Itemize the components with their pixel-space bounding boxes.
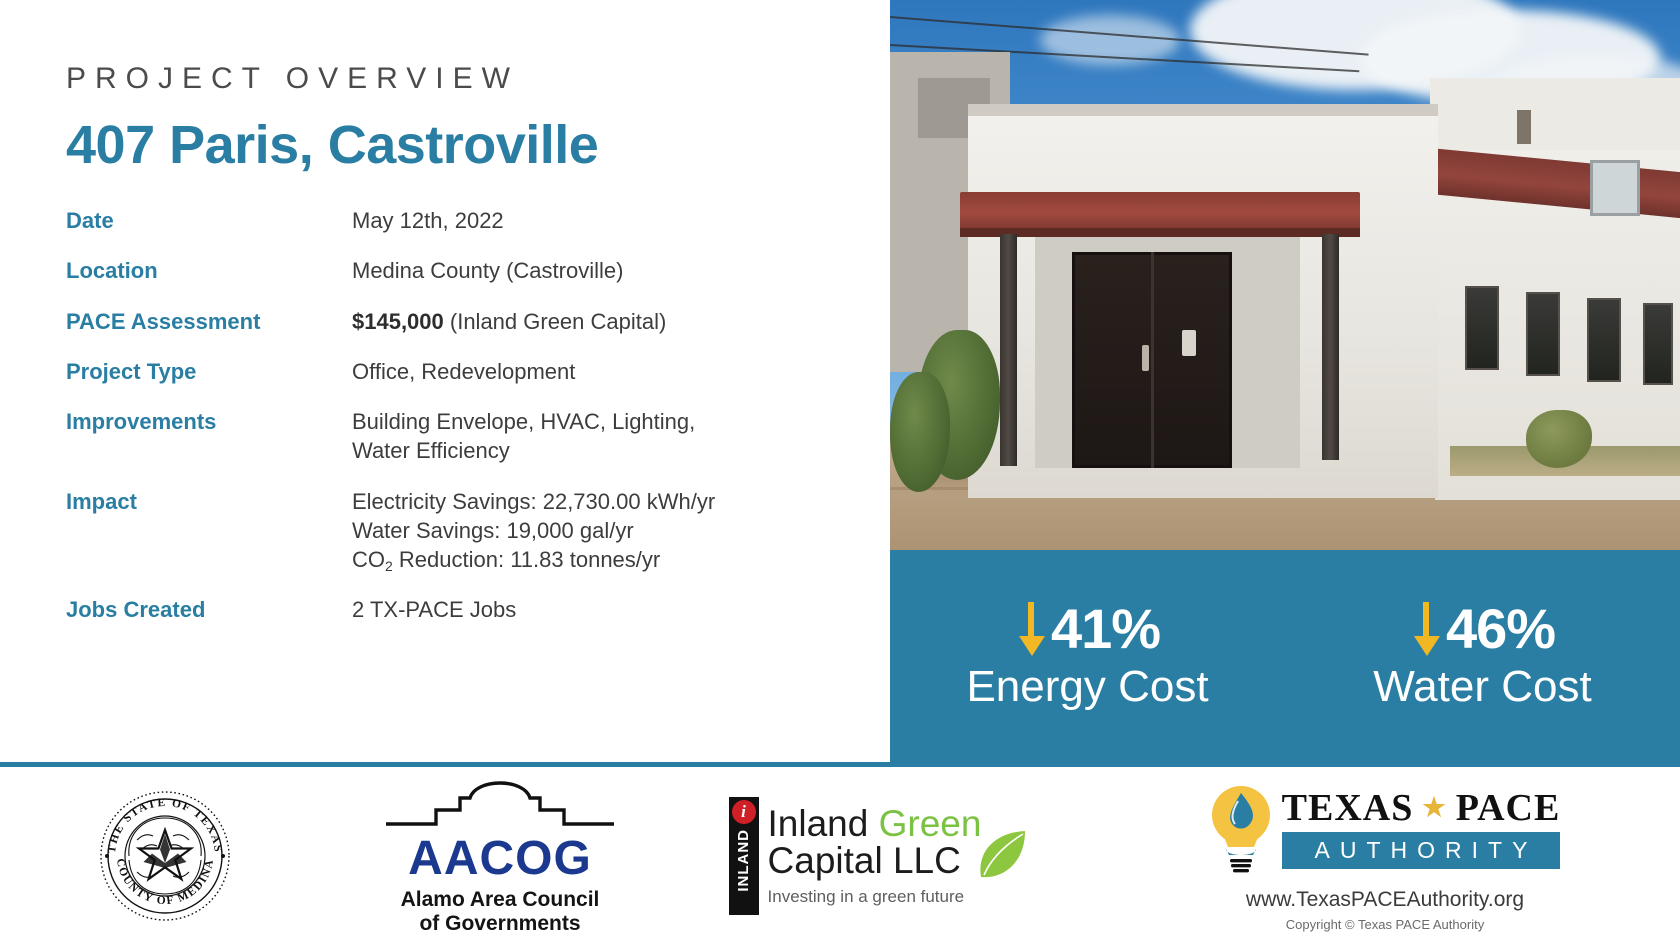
- assessment-amount: $145,000: [352, 309, 444, 334]
- stat-label: Water Cost: [1285, 662, 1680, 711]
- detail-row-date: Date May 12th, 2022: [66, 206, 890, 235]
- upper-window: [1590, 160, 1640, 216]
- stat-percent: 46%: [1446, 601, 1555, 657]
- star-icon: ★: [1422, 795, 1446, 821]
- detail-label: Project Type: [66, 357, 352, 386]
- detail-value: Medina County (Castroville): [352, 256, 623, 285]
- building-parapet: [968, 104, 1438, 116]
- eyebrow-label: PROJECT OVERVIEW: [66, 62, 890, 96]
- green-leaf-icon: [975, 825, 1031, 887]
- footer-logos: THE STATE OF TEXAS COUNTY OF MEDINA: [0, 767, 1680, 945]
- aacog-subtitle-line-1: Alamo Area Council: [384, 888, 616, 912]
- top-section: PROJECT OVERVIEW 407 Paris, Castroville …: [0, 0, 1680, 762]
- inland-tagline: Investing in a green future: [768, 887, 982, 907]
- co2-suffix: Reduction: 11.83 tonnes/yr: [393, 547, 660, 572]
- lightbulb-waterdrop-icon: [1210, 781, 1272, 877]
- aacog-lockup: AACOG Alamo Area Council of Governments: [384, 776, 616, 936]
- door-center-split: [1151, 252, 1154, 468]
- alamo-mission-outline-icon: [384, 776, 616, 828]
- detail-value: $145,000 (Inland Green Capital): [352, 307, 666, 336]
- stat-water-cost: 46% Water Cost: [1285, 600, 1680, 711]
- stat-energy-cost: 41% Energy Cost: [890, 600, 1285, 711]
- detail-value: Building Envelope, HVAC, Lighting, Water…: [352, 407, 695, 466]
- detail-row-improvements: Improvements Building Envelope, HVAC, Li…: [66, 407, 890, 466]
- inland-badge: i INLAND: [729, 797, 759, 915]
- inland-wordmark: Inland Green Capital LLC Investing in a …: [768, 805, 982, 907]
- tpa-lockup: TEXAS ★ PACE AUTHORITY: [1210, 781, 1561, 877]
- impact-co2: CO2 Reduction: 11.83 tonnes/yr: [352, 545, 715, 574]
- logo-medina-county-seal: THE STATE OF TEXAS COUNTY OF MEDINA: [0, 767, 330, 945]
- project-overview-sheet: PROJECT OVERVIEW 407 Paris, Castroville …: [0, 0, 1680, 945]
- improvements-line-2: Water Efficiency: [352, 436, 695, 465]
- door-keypad: [1182, 330, 1196, 356]
- aacog-subtitle: Alamo Area Council of Governments: [384, 888, 616, 936]
- tpa-word-texas: TEXAS: [1282, 789, 1414, 827]
- wing-window: [1465, 286, 1499, 370]
- wing-window: [1643, 303, 1673, 385]
- details-list: Date May 12th, 2022 Location Medina Coun…: [66, 206, 890, 625]
- detail-label: Jobs Created: [66, 595, 352, 624]
- aacog-wordmark: AACOG: [384, 835, 616, 883]
- stat-percent: 41%: [1051, 601, 1160, 657]
- tpa-word-pace: PACE: [1456, 789, 1561, 827]
- inland-badge-text: INLAND: [735, 829, 752, 892]
- detail-value: Electricity Savings: 22,730.00 kWh/yr Wa…: [352, 487, 715, 575]
- detail-row-impact: Impact Electricity Savings: 22,730.00 kW…: [66, 487, 890, 575]
- detail-value: 2 TX-PACE Jobs: [352, 595, 516, 624]
- wing-window: [1526, 292, 1560, 376]
- stat-label: Energy Cost: [890, 662, 1285, 711]
- logo-texas-pace-authority: TEXAS ★ PACE AUTHORITY www.TexasPACEAuth…: [1090, 767, 1680, 945]
- texas-star-seal-icon: THE STATE OF TEXAS COUNTY OF MEDINA: [99, 790, 231, 922]
- detail-value: May 12th, 2022: [352, 206, 504, 235]
- down-arrow-icon: [1410, 600, 1444, 658]
- inland-green-word: Green: [879, 803, 982, 844]
- aacog-subtitle-line-2: of Governments: [384, 912, 616, 936]
- tpa-title-row: TEXAS ★ PACE: [1282, 789, 1561, 827]
- co2-subscript: 2: [385, 558, 393, 574]
- details-pane: PROJECT OVERVIEW 407 Paris, Castroville …: [0, 0, 890, 762]
- impact-stats-panel: 41% Energy Cost 46% Water Cost: [890, 550, 1680, 762]
- detail-label: Location: [66, 256, 352, 285]
- porch-post-right: [1322, 234, 1339, 460]
- impact-electricity: Electricity Savings: 22,730.00 kWh/yr: [352, 487, 715, 516]
- inland-i-mark-icon: i: [732, 800, 756, 824]
- inland-line-2: Capital LLC: [768, 842, 982, 881]
- page-title: 407 Paris, Castroville: [66, 114, 890, 176]
- porch-roof-edge: [960, 228, 1360, 237]
- porch-post-left: [1000, 234, 1017, 466]
- stat-value-row: 41%: [890, 600, 1285, 658]
- project-photo: [890, 0, 1680, 550]
- detail-row-location: Location Medina County (Castroville): [66, 256, 890, 285]
- assessment-lender: (Inland Green Capital): [444, 309, 667, 334]
- tpa-wordmark: TEXAS ★ PACE AUTHORITY: [1282, 789, 1561, 869]
- detail-label: Impact: [66, 487, 352, 516]
- improvements-line-1: Building Envelope, HVAC, Lighting,: [352, 407, 695, 436]
- tpa-copyright: Copyright © Texas PACE Authority: [1286, 917, 1484, 932]
- detail-row-project-type: Project Type Office, Redevelopment: [66, 357, 890, 386]
- stat-value-row: 46%: [1285, 600, 1680, 658]
- logo-inland-green-capital: i INLAND Inland Green Capital LLC Invest…: [670, 767, 1090, 945]
- media-pane: 41% Energy Cost 46% Water Cost: [890, 0, 1680, 762]
- detail-label: Improvements: [66, 407, 352, 436]
- detail-label: Date: [66, 206, 352, 235]
- down-arrow-icon: [1015, 600, 1049, 658]
- wing-window: [1587, 298, 1621, 382]
- logo-aacog: AACOG Alamo Area Council of Governments: [330, 767, 670, 945]
- door-handle: [1142, 345, 1149, 371]
- tpa-authority-bar: AUTHORITY: [1282, 832, 1561, 869]
- impact-water: Water Savings: 19,000 gal/yr: [352, 516, 715, 545]
- co2-prefix: CO: [352, 547, 385, 572]
- detail-row-jobs-created: Jobs Created 2 TX-PACE Jobs: [66, 595, 890, 624]
- roof-vent: [1517, 110, 1531, 144]
- inland-lockup: i INLAND Inland Green Capital LLC Invest…: [729, 797, 1032, 915]
- tpa-website-url[interactable]: www.TexasPACEAuthority.org: [1246, 888, 1524, 912]
- inland-line-1: Inland Green: [768, 805, 982, 842]
- detail-value: Office, Redevelopment: [352, 357, 575, 386]
- inland-black-word: Inland: [768, 803, 879, 844]
- detail-row-pace-assessment: PACE Assessment $145,000 (Inland Green C…: [66, 307, 890, 336]
- detail-label: PACE Assessment: [66, 307, 352, 336]
